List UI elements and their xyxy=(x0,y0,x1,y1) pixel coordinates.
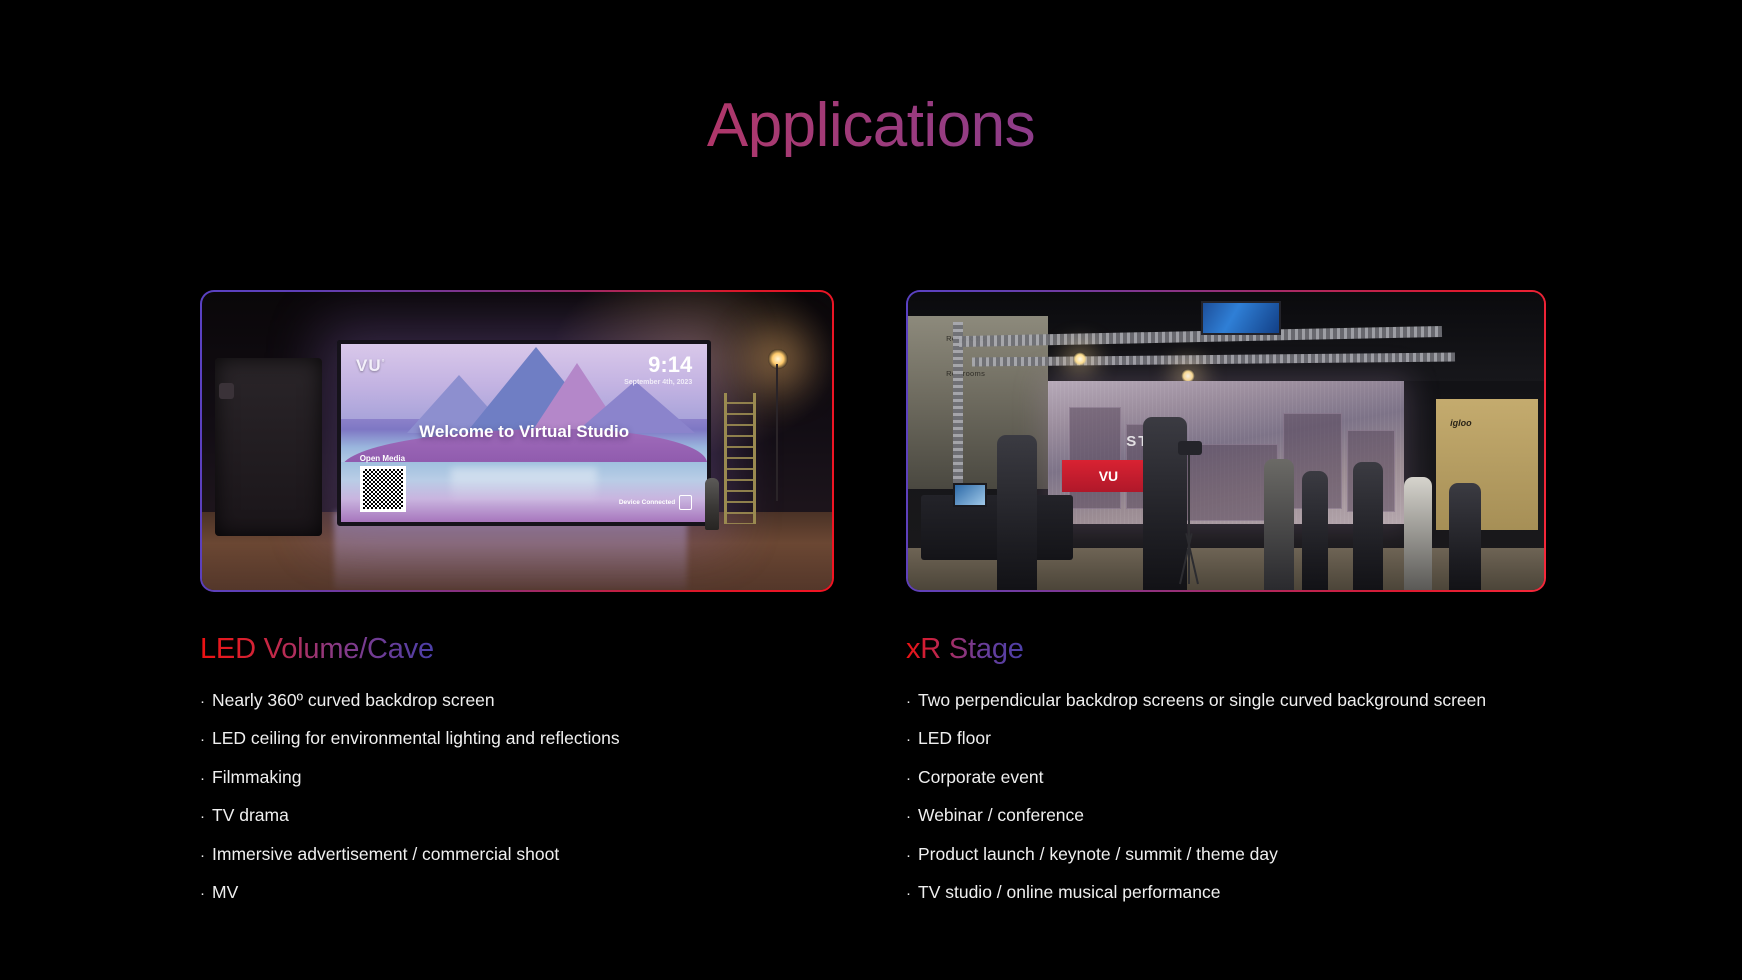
list-item-label: Two perpendicular backdrop screens or si… xyxy=(918,692,1486,710)
clock-date: September 4th, 2023 xyxy=(624,379,692,386)
heading-led-volume-cave: LED Volume/Cave xyxy=(200,634,434,666)
crew-member xyxy=(1449,483,1481,590)
list-item-label: Filmmaking xyxy=(212,769,301,787)
stage-lamp-icon xyxy=(1073,352,1087,366)
crew-member xyxy=(1264,459,1294,590)
list-item: · Two perpendicular backdrop screens or … xyxy=(906,692,1546,710)
page-title: Applications xyxy=(0,95,1742,157)
list-item-label: Webinar / conference xyxy=(918,807,1084,825)
igloo-brand-label: igloo xyxy=(1450,418,1472,428)
list-item-label: Immersive advertisement / commercial sho… xyxy=(212,846,559,864)
bullet-marker-icon: · xyxy=(200,694,205,709)
city-building xyxy=(1176,444,1278,520)
qr-code-icon xyxy=(360,466,406,512)
vu-wall-banner: VU xyxy=(1062,460,1155,491)
lamp-stand xyxy=(776,364,778,501)
list-item-label: LED floor xyxy=(918,730,991,748)
crew-member xyxy=(997,435,1037,590)
photo-frame-xr-stage: Restrooms Restrooms STYPE VU igloo xyxy=(906,290,1546,592)
bullet-marker-icon: · xyxy=(906,809,911,824)
bullet-marker-icon: · xyxy=(906,848,911,863)
list-item-label: Nearly 360º curved backdrop screen xyxy=(212,692,495,710)
water-glint xyxy=(451,468,597,504)
list-item: · LED floor xyxy=(906,730,1546,748)
camera-head xyxy=(219,383,234,399)
control-monitor xyxy=(953,483,987,507)
bullet-marker-icon: · xyxy=(200,886,205,901)
list-item-label: LED ceiling for environmental lighting a… xyxy=(212,730,620,748)
bullet-marker-icon: · xyxy=(906,771,911,786)
crew-member xyxy=(1404,477,1432,590)
list-item: · MV xyxy=(200,884,836,902)
application-card-xr-stage: Restrooms Restrooms STYPE VU igloo xyxy=(906,290,1546,923)
photo-led-volume-studio: VU° 9:14 September 4th, 2023 Welcome to … xyxy=(202,292,832,590)
photo-frame-led-volume: VU° 9:14 September 4th, 2023 Welcome to … xyxy=(200,290,834,592)
list-item-label: Corporate event xyxy=(918,769,1044,787)
vu-logo-superscript: ° xyxy=(382,360,386,367)
open-media-label: Open Media xyxy=(360,454,406,463)
device-connected-status: Device Connected xyxy=(619,495,692,510)
bullet-marker-icon: · xyxy=(200,848,205,863)
vu-logo-icon: VU° xyxy=(356,356,385,376)
overhead-monitor xyxy=(1201,301,1281,335)
open-media-block: Open Media xyxy=(360,454,406,512)
bullet-marker-icon: · xyxy=(200,771,205,786)
list-item: · Filmmaking xyxy=(200,769,836,787)
crew-member xyxy=(705,478,719,530)
feature-list-xr-stage: · Two perpendicular backdrop screens or … xyxy=(906,692,1546,902)
list-item-label: TV drama xyxy=(212,807,289,825)
crew-member xyxy=(1353,462,1383,590)
feature-list-led-volume: · Nearly 360º curved backdrop screen · L… xyxy=(200,692,836,902)
heading-xr-stage: xR Stage xyxy=(906,634,1024,666)
bullet-marker-icon: · xyxy=(906,886,911,901)
list-item-label: TV studio / online musical performance xyxy=(918,884,1221,902)
list-item: · Corporate event xyxy=(906,769,1546,787)
screen-welcome-text: Welcome to Virtual Studio xyxy=(341,422,706,442)
city-building xyxy=(1069,407,1121,509)
crew-member xyxy=(1302,471,1328,590)
list-item: · Webinar / conference xyxy=(906,807,1546,825)
device-connected-label: Device Connected xyxy=(619,499,675,506)
bullet-marker-icon: · xyxy=(200,809,205,824)
vu-logo-text: VU xyxy=(356,356,382,375)
list-item: · Product launch / keynote / summit / th… xyxy=(906,846,1546,864)
list-item: · Nearly 360º curved backdrop screen xyxy=(200,692,836,710)
clock-time: 9:14 xyxy=(624,354,692,376)
screen-clock: 9:14 September 4th, 2023 xyxy=(624,354,692,386)
bullet-marker-icon: · xyxy=(906,694,911,709)
camera-rig xyxy=(215,358,322,537)
photo-xr-stage: Restrooms Restrooms STYPE VU igloo xyxy=(908,292,1544,590)
ladder xyxy=(724,393,756,524)
broadcast-camera xyxy=(1178,441,1202,455)
camera-tripod xyxy=(1188,447,1190,584)
device-icon xyxy=(679,495,692,510)
list-item: · TV drama xyxy=(200,807,836,825)
bullet-marker-icon: · xyxy=(906,732,911,747)
bullet-marker-icon: · xyxy=(200,732,205,747)
studio-lamp-icon xyxy=(768,349,788,369)
list-item: · Immersive advertisement / commercial s… xyxy=(200,846,836,864)
list-item: · LED ceiling for environmental lighting… xyxy=(200,730,836,748)
list-item: · TV studio / online musical performance xyxy=(906,884,1546,902)
list-item-label: MV xyxy=(212,884,238,902)
list-item-label: Product launch / keynote / summit / them… xyxy=(918,846,1278,864)
application-card-led-volume: VU° 9:14 September 4th, 2023 Welcome to … xyxy=(200,290,836,923)
stage-led-wall: STYPE VU xyxy=(1048,381,1404,524)
led-wall-screen: VU° 9:14 September 4th, 2023 Welcome to … xyxy=(337,340,710,527)
